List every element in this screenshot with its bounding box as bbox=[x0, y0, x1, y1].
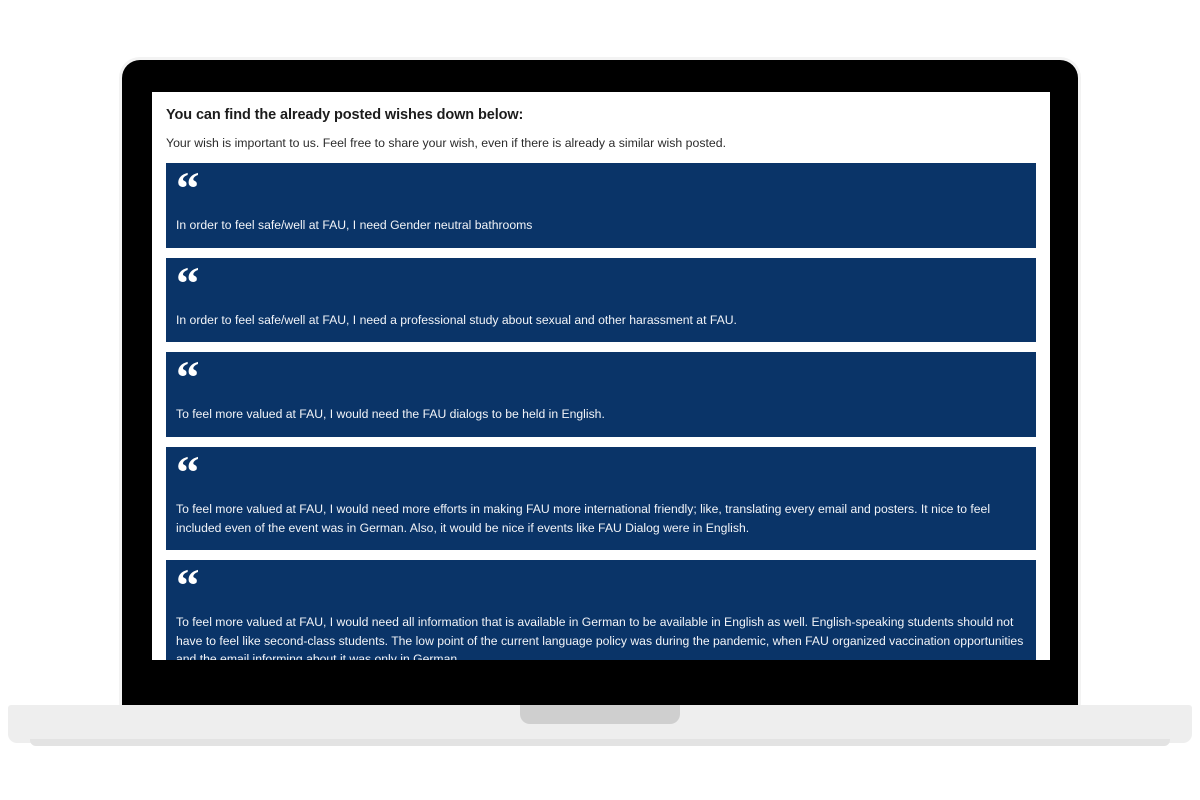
wish-card: “ To feel more valued at FAU, I would ne… bbox=[166, 352, 1036, 437]
wishes-list: “ In order to feel safe/well at FAU, I n… bbox=[166, 163, 1036, 660]
laptop-base-notch bbox=[520, 705, 680, 724]
quote-icon: “ bbox=[176, 574, 1026, 599]
quote-icon: “ bbox=[176, 461, 1026, 486]
wish-text: In order to feel safe/well at FAU, I nee… bbox=[176, 216, 1026, 235]
wish-text: To feel more valued at FAU, I would need… bbox=[176, 405, 1026, 424]
quote-icon: “ bbox=[176, 272, 1026, 297]
wish-card: “ In order to feel safe/well at FAU, I n… bbox=[166, 258, 1036, 343]
laptop-base-lip bbox=[30, 739, 1170, 746]
laptop-mockup: You can find the already posted wishes d… bbox=[0, 0, 1200, 800]
wish-text: In order to feel safe/well at FAU, I nee… bbox=[176, 311, 1026, 330]
wish-card: “ To feel more valued at FAU, I would ne… bbox=[166, 447, 1036, 550]
wish-text: To feel more valued at FAU, I would need… bbox=[176, 500, 1026, 537]
wish-card: “ In order to feel safe/well at FAU, I n… bbox=[166, 163, 1036, 248]
wish-card: “ To feel more valued at FAU, I would ne… bbox=[166, 560, 1036, 660]
wish-text: To feel more valued at FAU, I would need… bbox=[176, 613, 1026, 660]
quote-icon: “ bbox=[176, 366, 1026, 391]
page-title: You can find the already posted wishes d… bbox=[166, 106, 1036, 126]
page-subtitle: Your wish is important to us. Feel free … bbox=[166, 135, 1036, 152]
browser-viewport: You can find the already posted wishes d… bbox=[152, 92, 1050, 660]
page-content: You can find the already posted wishes d… bbox=[152, 92, 1050, 660]
quote-icon: “ bbox=[176, 177, 1026, 202]
